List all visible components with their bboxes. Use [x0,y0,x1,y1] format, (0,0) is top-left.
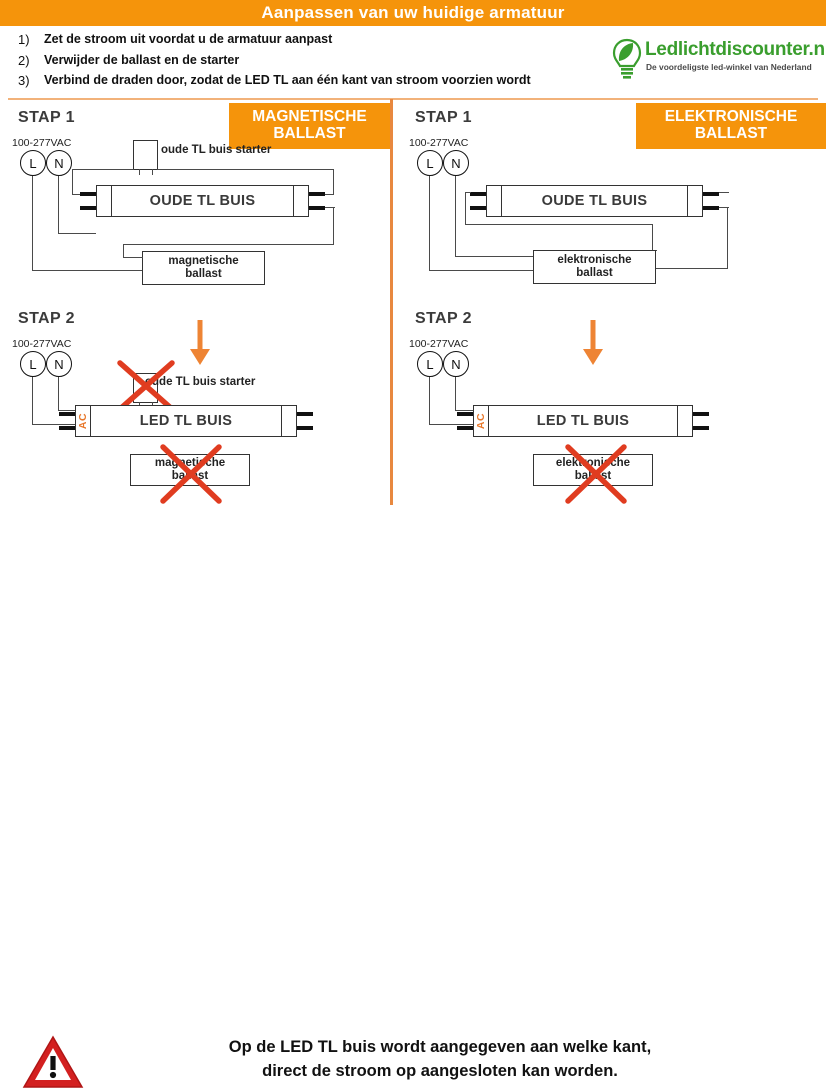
left-step1-starter-wire-left [72,169,134,170]
badge-line-2: BALLAST [642,125,820,142]
right-step1-wire-tube-left-loop [465,192,466,225]
right-step1-pin-left-bottom [470,206,486,210]
right-step1-wire-n-vertical [455,176,456,257]
right-step1-tube-cap-right [687,185,703,217]
instruction-item: 3) Verbind de draden door, zodat de LED … [18,73,578,89]
left-step1-starter-box [133,140,158,170]
left-step1-starter-drop-right [333,169,334,195]
right-step1-voltage: 100-277VAC [409,137,468,149]
footer-warning-line-2: direct de stroom op aangesloten kan word… [110,1060,770,1084]
right-step1-tube-label: OUDE TL BUIS [542,193,648,209]
left-step1-pin-left-bottom [80,206,96,210]
left-step1-starter-wire-right [157,169,334,170]
instruction-text: Verwijder de ballast en de starter [44,53,239,69]
left-step1-wire-ballast-in [123,257,143,258]
right-step1-pin-left-top [470,192,486,196]
right-step1-wire-tube-left-top [465,192,471,193]
instruction-item: 1) Zet de stroom uit voordat u de armatu… [18,32,578,48]
left-step1-heading: STAP 1 [18,109,75,127]
diagram-root: Aanpassen van uw huidige armatuur 1) Zet… [0,0,826,598]
left-step1-tube-cap-right [293,185,309,217]
left-step2-pin-right-bottom [297,426,313,430]
left-step2-ballast-cross-icon [160,444,222,504]
left-step1-tube: OUDE TL BUIS [96,185,309,217]
instruction-text: Verbind de draden door, zodat de LED TL … [44,73,531,89]
right-step1-ballast-line-1: elektronische [557,254,631,267]
left-step1-wire-n-to-tube [58,233,96,234]
left-step2-voltage: 100-277VAC [12,338,71,350]
left-step1-wire-ballast-left-drop [123,244,124,258]
left-step1-wire-right-drop [333,207,334,245]
left-step1-pin-left-top [80,192,96,196]
left-step1-starter-drop-left [72,169,73,195]
left-step1-wire-n-vertical [58,176,59,234]
left-step2-heading: STAP 2 [18,310,75,328]
left-step2-down-arrow-icon [188,318,212,366]
left-step2-tube-label: LED TL BUIS [140,413,232,429]
instruction-item: 2) Verwijder de ballast en de starter [18,53,578,69]
left-step2-tube-cap-right [281,405,297,437]
right-step1-ballast-box: elektronische ballast [533,250,656,284]
left-step1-wire-l-vertical [32,176,33,271]
badge-electronic-ballast: ELEKTRONISCHE BALLAST [636,103,826,149]
right-step1-wire-mid-drop [652,224,653,251]
panel-magnetic-ballast: MAGNETISCHE BALLAST STAP 1 100-277VAC L … [0,99,390,505]
right-step2-pin-left-bottom [457,426,473,430]
right-step1-wire-right-drop [727,207,728,269]
right-step2-pin-right-top [693,412,709,416]
right-step2-pin-left-top [457,412,473,416]
left-step2-tube: LED TL BUIS AC [75,405,297,437]
left-step1-ballast-line-1: magnetische [168,255,238,268]
left-step2-terminal-n: N [46,351,72,377]
right-step2-tube-ac-label: AC [475,409,487,433]
badge-line-1: MAGNETISCHE [235,108,384,125]
left-step1-terminal-l: L [20,150,46,176]
right-step2-tube-body: LED TL BUIS [473,405,693,437]
right-step1-pin-right-top [703,192,719,196]
right-step1-tube: OUDE TL BUIS [486,185,703,217]
left-step1-terminal-n: N [46,150,72,176]
instruction-number: 2) [18,53,44,68]
left-step1-starter-pin-2 [152,169,153,175]
footer-warning: Op de LED TL buis wordt aangegeven aan w… [0,506,826,598]
right-step1-pin-right-bottom [703,206,719,210]
right-step2-wire-l-vertical [429,377,430,425]
company-logo: Ledlichtdiscounter.nl De voordeligste le… [612,38,817,84]
right-step1-wire-tube-right-top [719,192,729,193]
left-step1-ballast-line-2: ballast [168,268,238,281]
right-step1-terminal-n: N [443,150,469,176]
panel-electronic-ballast: ELEKTRONISCHE BALLAST STAP 1 100-277VAC … [393,99,826,505]
instruction-number: 1) [18,32,44,47]
right-step1-heading: STAP 1 [415,109,472,127]
badge-magnetic-ballast: MAGNETISCHE BALLAST [229,103,390,149]
right-step2-down-arrow-icon [581,318,605,366]
right-step1-wire-n-horizontal [455,256,533,257]
right-step1-wire-right-to-ballast [655,268,728,269]
title-bar: Aanpassen van uw huidige armatuur [0,0,826,26]
left-step2-wire-l-vertical [32,377,33,425]
right-step2-pin-right-bottom [693,426,709,430]
left-step2-pin-right-top [297,412,313,416]
left-step1-ballast-box: magnetische ballast [142,251,265,285]
logo-tagline: De voordeligste led-winkel van Nederland [646,62,812,72]
left-step2-wire-n-vertical [58,377,59,411]
right-step1-wire-l-horizontal [429,270,533,271]
left-step2-tube-ac-label: AC [77,409,89,433]
logo-brand-text: Ledlichtdiscounter.nl [645,39,826,61]
left-step2-pin-left-bottom [59,426,75,430]
right-step2-terminal-l: L [417,351,443,377]
left-step2-pin-left-top [59,412,75,416]
left-step2-terminal-l: L [20,351,46,377]
instruction-list: 1) Zet de stroom uit voordat u de armatu… [18,32,578,94]
right-step1-terminal-l: L [417,150,443,176]
right-step1-tube-body: OUDE TL BUIS [486,185,703,217]
footer-warning-line-1: Op de LED TL buis wordt aangegeven aan w… [110,1036,770,1060]
left-step1-wire-ballast-top [123,244,334,245]
left-step1-tube-label: OUDE TL BUIS [150,193,256,209]
left-step1-pin-right-bottom [309,206,325,210]
right-step1-wire-tube-left-bottom [465,224,652,225]
right-step2-heading: STAP 2 [415,310,472,328]
right-step1-ballast-line-2: ballast [557,267,631,280]
right-step1-tube-cap-left [486,185,502,217]
left-step1-tube-cap-left [96,185,112,217]
right-step2-terminal-n: N [443,351,469,377]
instruction-text: Zet de stroom uit voordat u de armatuur … [44,32,332,48]
leaf-bulb-icon [612,38,642,80]
page-title: Aanpassen van uw huidige armatuur [261,3,564,23]
left-step1-pin-right-top [309,192,325,196]
footer-warning-text: Op de LED TL buis wordt aangegeven aan w… [110,1036,770,1084]
badge-line-1: ELEKTRONISCHE [642,108,820,125]
instruction-number: 3) [18,73,44,88]
left-step1-wire-l-to-ballast [32,270,144,271]
right-step1-wire-l-vertical [429,176,430,271]
right-step2-tube: LED TL BUIS AC [473,405,693,437]
left-step1-tube-body: OUDE TL BUIS [96,185,309,217]
warning-triangle-icon [22,1034,84,1090]
right-step2-wire-n-vertical [455,377,456,411]
right-step2-tube-cap-right [677,405,693,437]
left-step1-starter-pin-1 [139,169,140,175]
left-step1-starter-label: oude TL buis starter [161,144,271,156]
right-step2-ballast-cross-icon [565,444,627,504]
right-step2-tube-label: LED TL BUIS [537,413,629,429]
left-step1-voltage: 100-277VAC [12,137,71,149]
badge-line-2: BALLAST [235,125,384,142]
right-step2-voltage: 100-277VAC [409,338,468,350]
left-step2-tube-body: LED TL BUIS [75,405,297,437]
